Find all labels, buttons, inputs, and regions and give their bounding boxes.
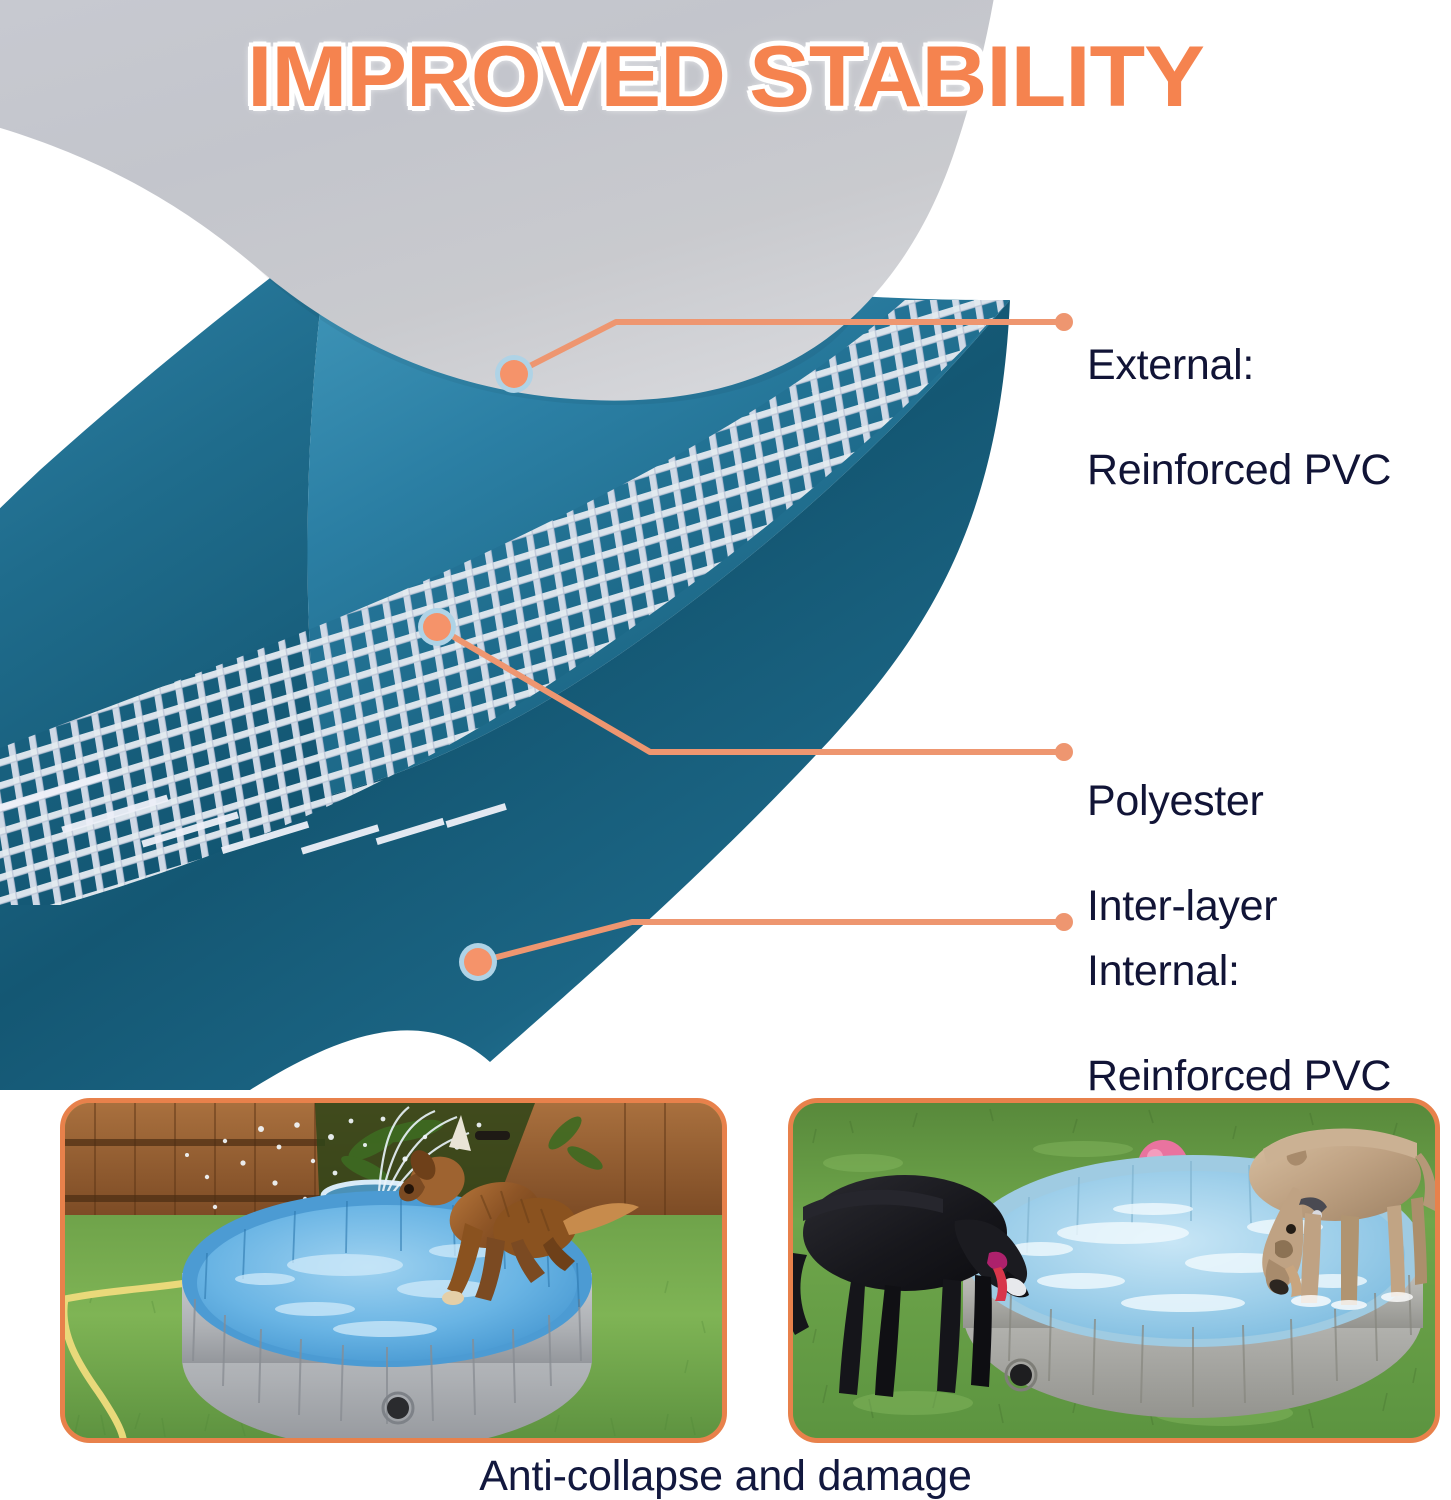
bottom-caption: Anti-collapse and damage (0, 1452, 1451, 1500)
callout-internal-line2: Reinforced PVC (1087, 1050, 1391, 1102)
callout-external-line2: Reinforced PVC (1087, 444, 1391, 496)
photo-left-artwork (65, 1103, 722, 1438)
callout-terminal-dots (1055, 313, 1073, 931)
anchor-dot-polyester (423, 613, 451, 641)
anchor-dot-internal (464, 948, 492, 976)
anchor-dot-external (500, 360, 528, 388)
callout-internal-line1: Internal: (1087, 945, 1391, 997)
callout-external-line1: External: (1087, 339, 1391, 391)
infographic-stage: IMPROVED STABILITY External: Reinforced … (0, 0, 1451, 1500)
callout-label-external: External: Reinforced PVC (1087, 287, 1391, 549)
callout-polyester-line1: Polyester (1087, 775, 1277, 827)
terminal-dot-internal (1055, 913, 1073, 931)
terminal-dot-external (1055, 313, 1073, 331)
photo-dog-jumping-into-pool (60, 1098, 727, 1443)
callout-label-internal: Internal: Reinforced PVC (1087, 893, 1391, 1155)
terminal-dot-polyester (1055, 743, 1073, 761)
